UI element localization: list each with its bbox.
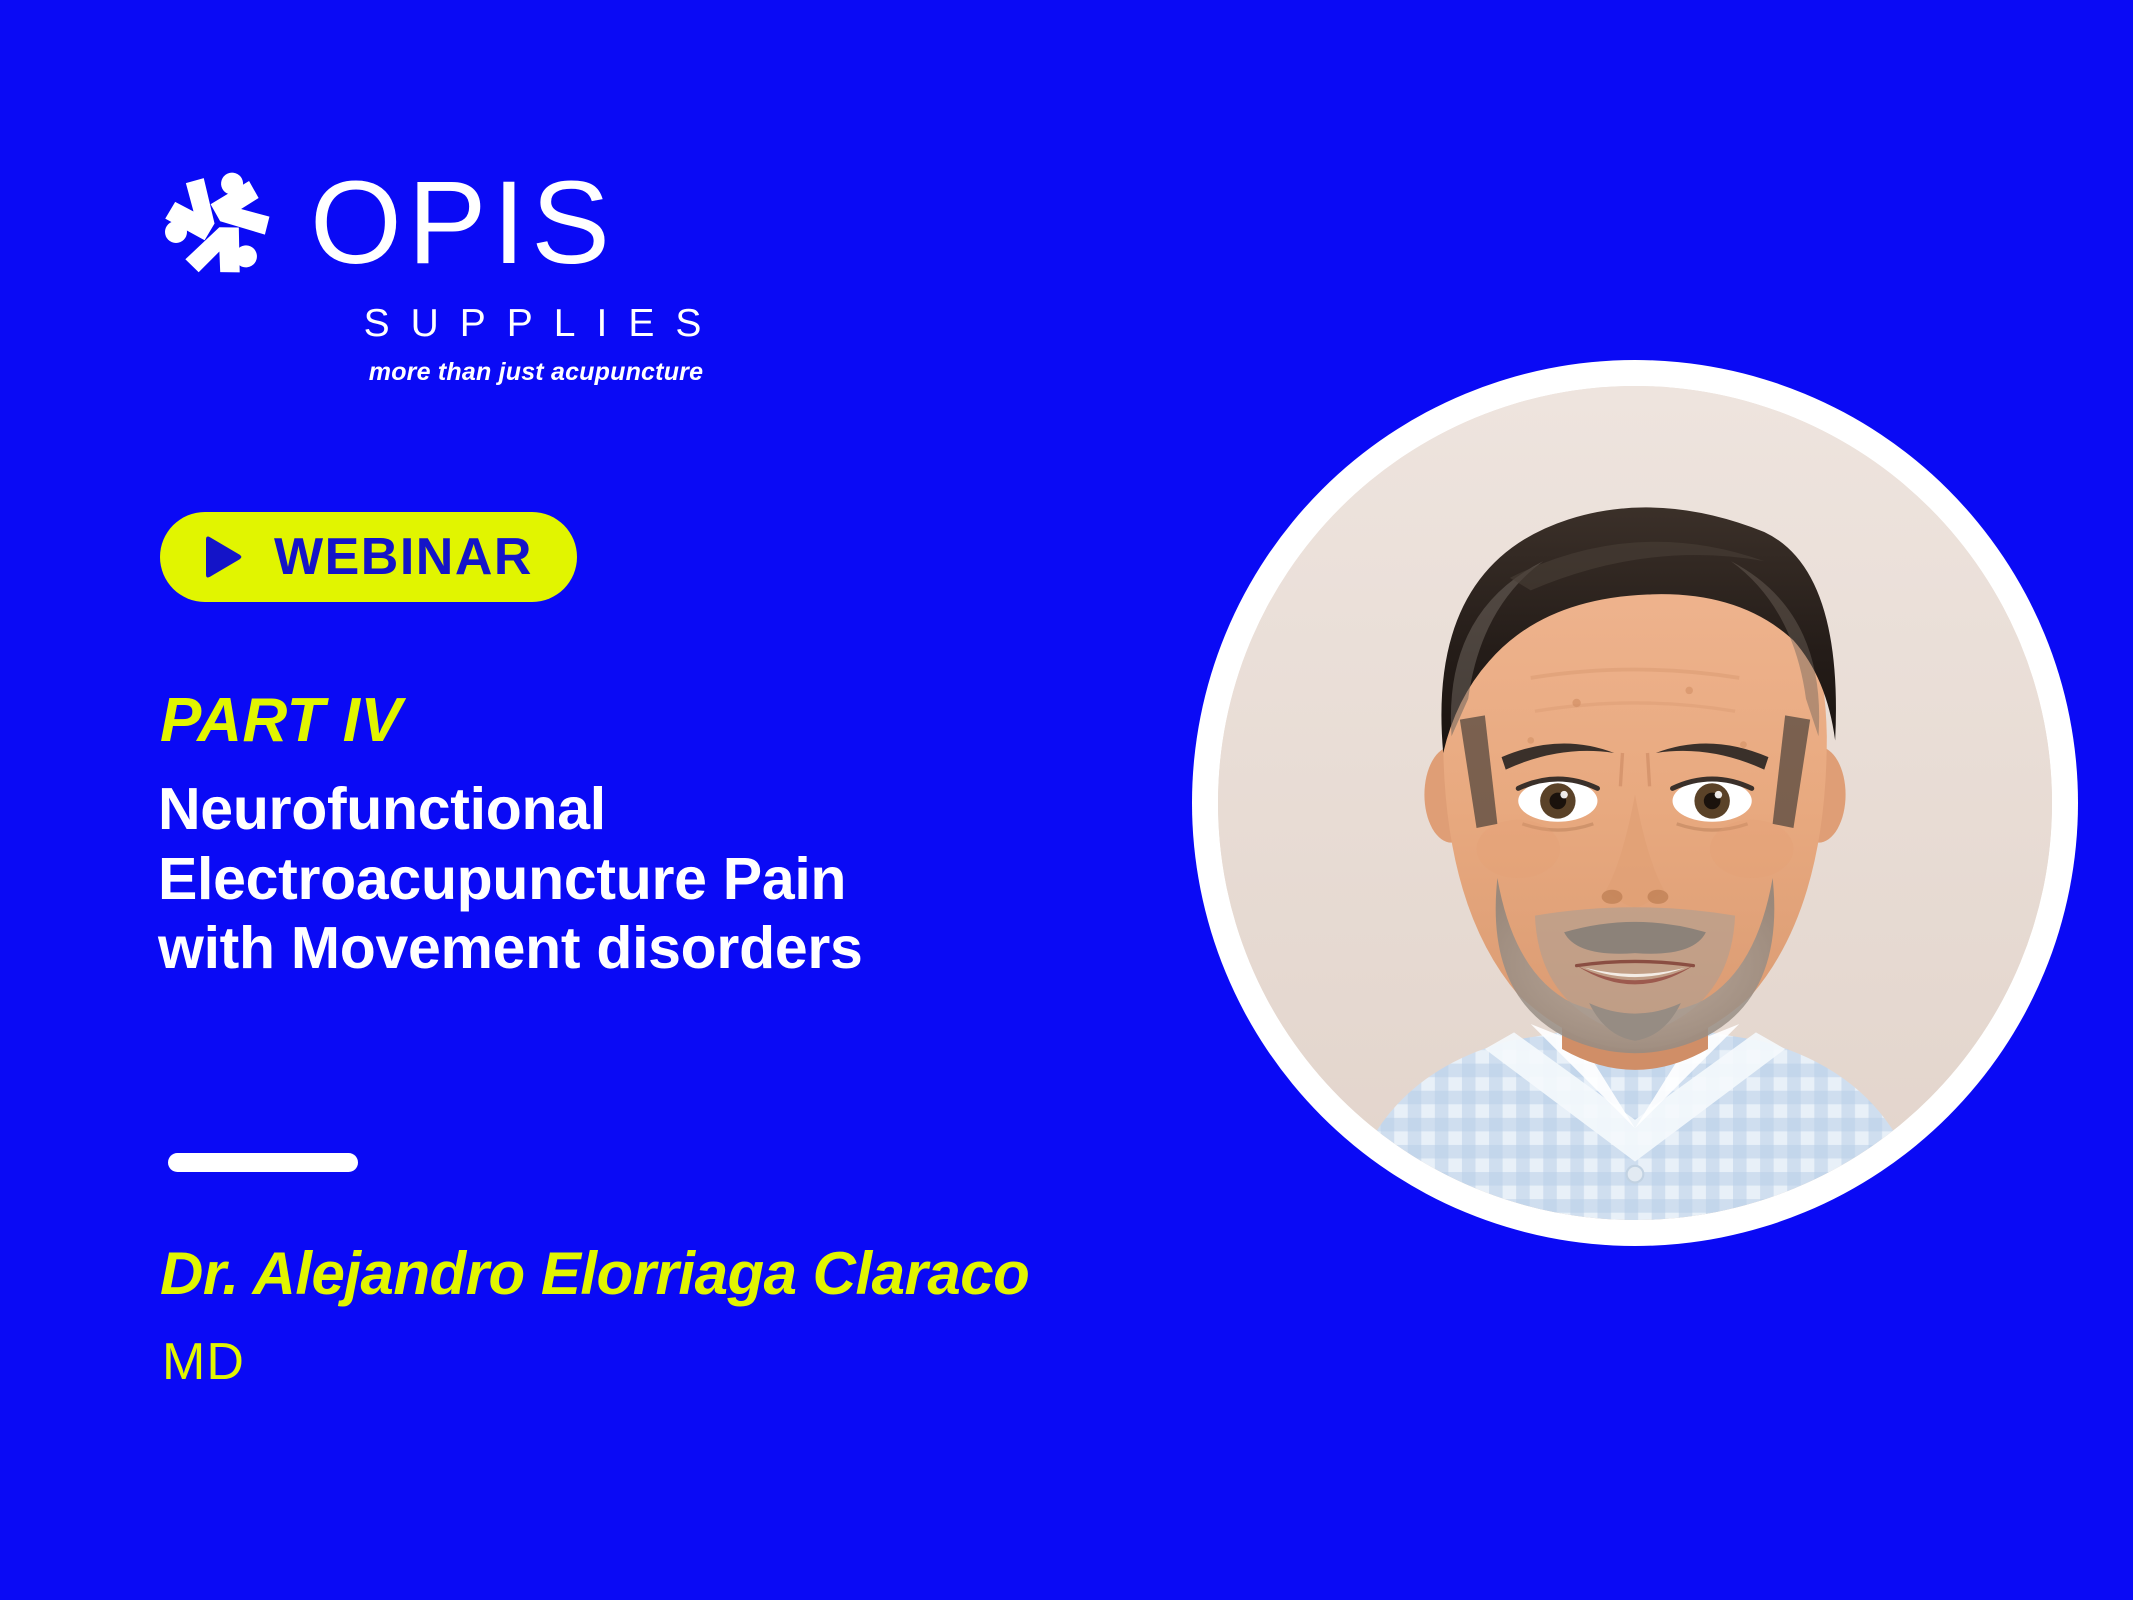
presenter-name: Dr. Alejandro Elorriaga Claraco: [160, 1244, 1029, 1304]
logo-row: OPIS: [152, 158, 772, 290]
logo-tagline: more than just acupuncture: [300, 358, 772, 387]
webinar-badge[interactable]: WEBINAR: [160, 512, 577, 602]
opis-pinwheel-people-mark: [152, 158, 284, 290]
webinar-promo-slide: OPIS SUPPLIES more than just acupuncture…: [0, 0, 2133, 1600]
webinar-badge-label: WEBINAR: [274, 531, 533, 583]
part-label: PART IV: [160, 690, 402, 752]
presenter-photo-illustration: [1218, 386, 2052, 1220]
presenter-portrait-frame: [1192, 360, 2078, 1246]
play-icon: [200, 534, 244, 580]
page-title: Neurofunctional Electroacupuncture Pain …: [158, 775, 978, 984]
presenter-credential: MD: [162, 1336, 245, 1388]
divider-rule: [168, 1153, 358, 1172]
logo-subtitle: SUPPLIES: [300, 302, 772, 346]
brand-logo: OPIS SUPPLIES more than just acupuncture: [152, 158, 772, 387]
logo-wordmark: OPIS: [310, 167, 616, 280]
presenter-portrait: [1218, 386, 2052, 1220]
